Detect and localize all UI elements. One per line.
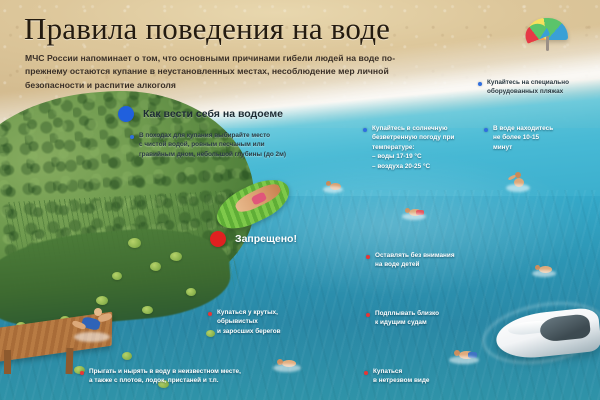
tip-text: Купаться в нетрезвом виде	[373, 367, 429, 386]
tip-text: Прыгать и нырять в воду в неизвестном ме…	[89, 367, 241, 386]
tip-text: В воде находитесь не более 10-15 минут	[493, 124, 553, 152]
lily-pad-icon	[122, 352, 132, 360]
infographic-poster: Правила поведения на воде МЧС России нап…	[0, 0, 600, 400]
bullet-icon	[366, 313, 370, 317]
diving-person-icon	[68, 308, 114, 342]
tip-sunny-calm-weather: Купайтесь в солнечную безветренную погод…	[363, 124, 475, 171]
swimmer-icon	[404, 206, 426, 221]
tip-close-to-vessels: Подплывать близко к идущим судам	[366, 309, 490, 328]
tip-children-unattended: Оставлять без внимания на воде детей	[366, 251, 494, 270]
lily-pad-icon	[150, 262, 161, 271]
swimmer-icon	[534, 262, 556, 278]
bullet-icon	[364, 371, 368, 375]
section-header-allowed: Как вести себя на водоеме	[118, 106, 283, 122]
tip-text: Купайтесь в солнечную безветренную погод…	[372, 124, 454, 171]
bullet-icon	[366, 255, 370, 259]
tip-text: В походах для купания выбирайте место с …	[139, 131, 286, 159]
swimmer-icon	[452, 346, 478, 364]
swimmer-icon	[508, 172, 528, 190]
lily-pad-icon	[96, 296, 108, 305]
swimmer-icon	[326, 180, 344, 194]
page-title: Правила поведения на воде	[24, 12, 390, 46]
tip-text: Оставлять без внимания на воде детей	[375, 251, 455, 270]
motorboat-icon	[496, 298, 600, 362]
tip-drunk-swimming: Купаться в нетрезвом виде	[364, 367, 482, 386]
page-subtitle: МЧС России напоминает о том, что основны…	[25, 52, 417, 92]
section-label-forbidden: Запрещено!	[235, 233, 297, 245]
tip-steep-banks: Купаться у крутых, обрывистых и заросших…	[208, 308, 330, 336]
reeds-icon	[5, 190, 241, 322]
bullet-icon	[130, 135, 134, 139]
tip-text: Купаться у крутых, обрывистых и заросших…	[217, 308, 281, 336]
dock-post-icon	[66, 348, 74, 374]
dock-post-icon	[4, 350, 11, 374]
lily-pad-icon	[112, 272, 122, 280]
section-label-allowed: Как вести себя на водоеме	[143, 108, 283, 120]
bullet-icon	[484, 128, 488, 132]
tip-time-in-water: В воде находитесь не более 10-15 минут	[484, 124, 590, 152]
tip-clean-water-place: В походах для купания выбирайте место с …	[130, 131, 320, 159]
red-dot-icon	[210, 231, 226, 247]
bullet-icon	[208, 312, 212, 316]
bullet-icon	[80, 371, 84, 375]
tip-jump-dive-unknown: Прыгать и нырять в воду в неизвестном ме…	[80, 367, 310, 386]
bullet-icon	[363, 128, 367, 132]
lily-pad-icon	[186, 288, 196, 296]
blue-dot-icon	[118, 106, 134, 122]
lily-pad-icon	[128, 238, 141, 248]
beach-umbrella-icon	[524, 12, 570, 52]
bullet-icon	[478, 82, 482, 86]
lily-pad-icon	[170, 252, 182, 261]
tip-text: Подплывать близко к идущим судам	[375, 309, 439, 328]
tip-equipped-beaches: Купайтесь на специально оборудованных пл…	[478, 78, 594, 97]
section-header-forbidden: Запрещено!	[210, 231, 297, 247]
tip-text: Купайтесь на специально оборудованных пл…	[487, 78, 569, 97]
lily-pad-icon	[142, 306, 153, 314]
umbrella-pole	[546, 36, 549, 51]
